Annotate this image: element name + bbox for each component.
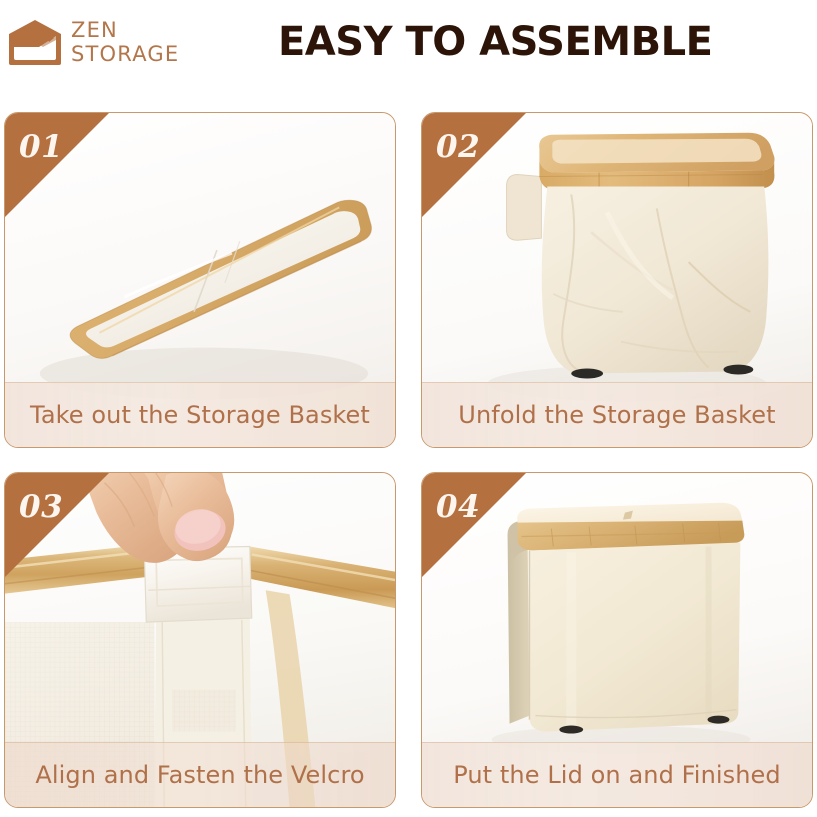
step-caption-text: Unfold the Storage Basket (458, 401, 775, 429)
step-caption-bar: Take out the Storage Basket (5, 382, 395, 447)
assembly-steps-grid: 01 Take out the Storage Basket (4, 112, 813, 812)
step-caption-text: Take out the Storage Basket (30, 401, 370, 429)
page-header: ZEN STORAGE EASY TO ASSEMBLE (0, 0, 817, 84)
step-caption-text: Put the Lid on and Finished (453, 761, 781, 789)
step-card-03: 03 Align and Fasten the Velcro (4, 472, 396, 808)
step-caption-bar: Align and Fasten the Velcro (5, 742, 395, 807)
page-title: EASY TO ASSEMBLE (179, 19, 817, 65)
storage-basket-logo-icon (6, 17, 64, 67)
brand-line-zen: ZEN (71, 20, 179, 41)
brand-wordmark: ZEN STORAGE (71, 20, 179, 65)
step-caption-bar: Unfold the Storage Basket (422, 382, 812, 447)
step-card-02: 02 Unfold the Storage Basket (421, 112, 813, 448)
step-card-01: 01 Take out the Storage Basket (4, 112, 396, 448)
step-caption-text: Align and Fasten the Velcro (35, 761, 364, 789)
step-caption-bar: Put the Lid on and Finished (422, 742, 812, 807)
step-card-04: 04 Put the Lid on and Finished (421, 472, 813, 808)
brand-logo: ZEN STORAGE (6, 17, 179, 67)
brand-line-storage: STORAGE (71, 44, 179, 65)
